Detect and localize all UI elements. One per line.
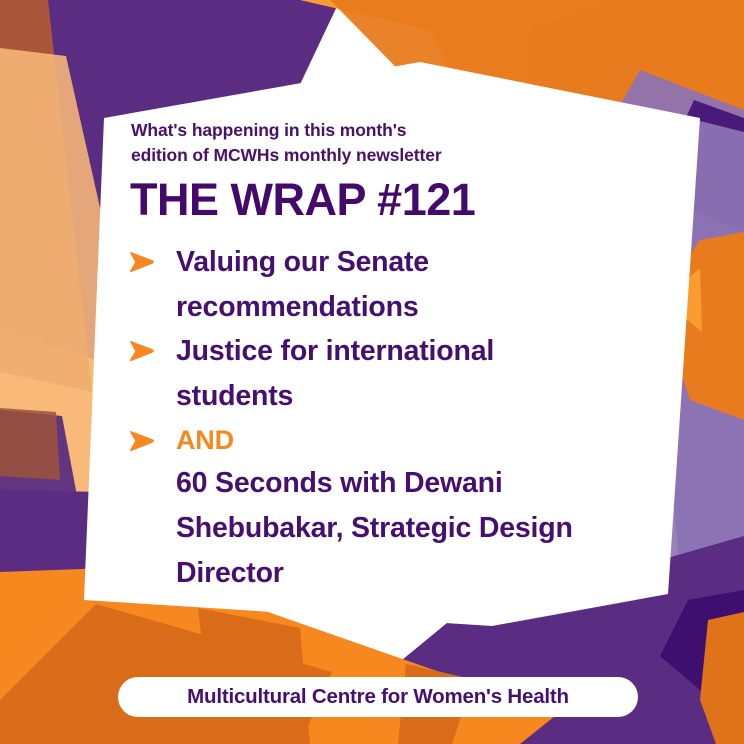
- arrow-right-icon: [128, 329, 176, 369]
- list-item: Justice for international: [128, 329, 648, 374]
- list-item-line-accent: AND: [176, 419, 234, 461]
- list-item: AND: [128, 419, 648, 461]
- arrow-right-icon: [128, 240, 176, 280]
- list-item-continuation: Director: [128, 551, 648, 596]
- footer-badge-label: Multicultural Centre for Women's Health: [187, 685, 569, 709]
- list-item-continuation: 60 Seconds with Dewani: [128, 461, 648, 506]
- footer-badge: Multicultural Centre for Women's Health: [118, 677, 638, 717]
- list-item-line: Director: [176, 551, 284, 596]
- kicker-text: What's happening in this month's edition…: [131, 118, 561, 168]
- list-item-continuation: Shebubakar, Strategic Design: [128, 506, 648, 551]
- list-item-line: Justice for international: [176, 329, 494, 374]
- list-item-continuation: students: [128, 374, 648, 419]
- kicker-line-1: What's happening in this month's: [131, 118, 561, 143]
- list-item-line: Valuing our Senate: [176, 240, 429, 285]
- bullet-list: Valuing our Senate recommendations Justi…: [128, 240, 648, 596]
- list-item-continuation: recommendations: [128, 285, 648, 330]
- list-item-line: students: [176, 374, 293, 419]
- kicker-line-2: edition of MCWHs monthly newsletter: [131, 143, 561, 168]
- arrow-right-icon: [128, 419, 176, 459]
- list-item-line: recommendations: [176, 285, 418, 330]
- list-item-line: 60 Seconds with Dewani: [176, 461, 503, 506]
- page-title: THE WRAP #121: [130, 177, 475, 222]
- newsletter-poster: What's happening in this month's edition…: [0, 0, 744, 744]
- list-item-line: Shebubakar, Strategic Design: [176, 506, 573, 551]
- list-item: Valuing our Senate: [128, 240, 648, 285]
